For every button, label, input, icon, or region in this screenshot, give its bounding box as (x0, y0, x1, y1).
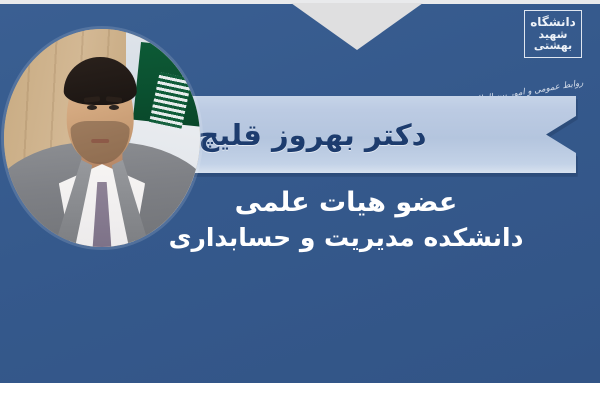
university-logo[interactable]: دانشگاه شهید بهشتی روابط عمومی و امور بی… (494, 8, 586, 88)
role-line: عضو هیات علمی (116, 186, 576, 221)
logo-frame-line-3: بهشتی (534, 40, 572, 52)
bottom-white-strip (0, 383, 600, 400)
person-name: دکتر بهروز قلیچ لی (148, 96, 552, 173)
photo-eye-right (109, 105, 119, 110)
photo-mouth (91, 139, 109, 143)
logo-frame-line-1: دانشگاه (530, 16, 576, 29)
subtitle-block: عضو هیات علمی دانشکده مدیریت و حسابداری (116, 186, 576, 254)
faculty-profile-card: دانشگاه شهید بهشتی روابط عمومی و امور بی… (0, 0, 600, 400)
logo-frame: دانشگاه شهید بهشتی (524, 10, 582, 58)
department-line: دانشکده مدیریت و حسابداری (116, 222, 576, 255)
